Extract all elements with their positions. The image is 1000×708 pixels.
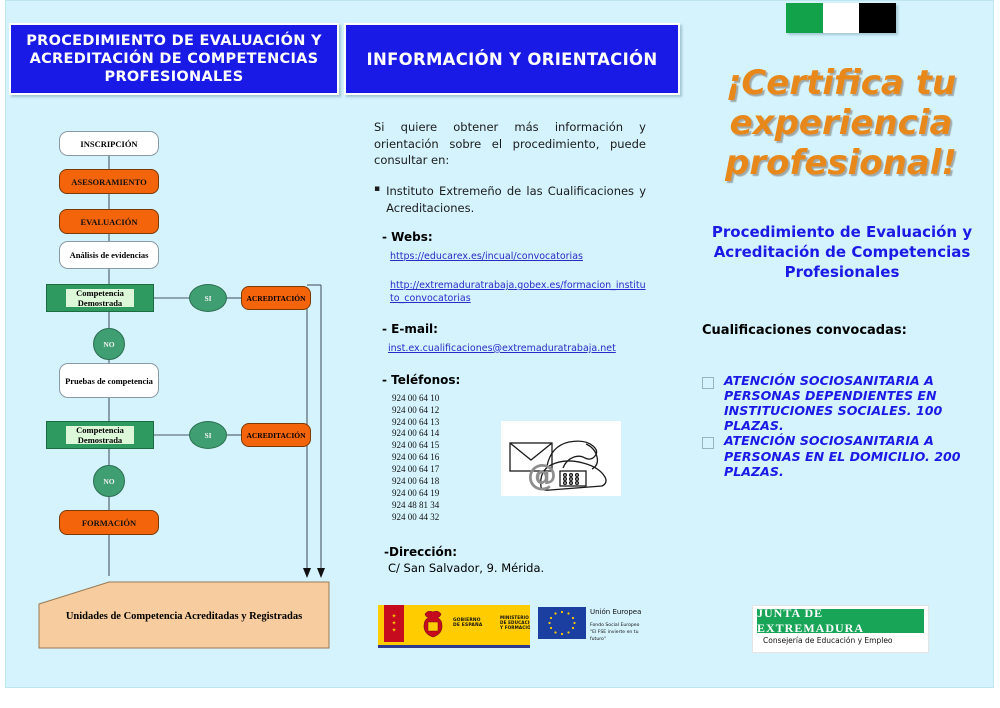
- flow-node-competencia-demostrada-2: Competencia Demostrada: [46, 421, 154, 449]
- flag-block-green: [786, 3, 823, 33]
- promo-subtitle: Procedimiento de Evaluación y Acreditaci…: [698, 223, 986, 282]
- funding-logos-row: ✦✦✦ GOBIERNODE ESPAÑA MINISTERIO DE EDUC…: [378, 605, 648, 651]
- flow-node-si-2: SI: [189, 421, 227, 449]
- flow-node-no-1: NO: [93, 328, 125, 360]
- qualifications-heading: Cualificaciones convocadas:: [702, 323, 907, 338]
- flow-node-competencia-demostrada-1-label: Competencia Demostrada: [65, 288, 135, 308]
- flow-node-no-2: NO: [93, 465, 125, 497]
- promo-slogan: ¡Certifica tu experiencia profesional!: [690, 63, 992, 183]
- flow-node-analisis-evidencias: Análisis de evidencias: [59, 241, 159, 269]
- qualification-label: ATENCIÓN SOCIOSANITARIA A PERSONAS DEPEN…: [724, 373, 988, 433]
- web-link-extremaduratrabaja[interactable]: http://extremaduratrabaja.gobex.es/forma…: [374, 280, 646, 306]
- checkbox-icon[interactable]: [702, 437, 714, 449]
- flag-block-black: [859, 3, 896, 33]
- flow-node-asesoramiento: ASESORAMIENTO: [59, 169, 159, 194]
- address-label: -Dirección:: [384, 545, 457, 559]
- flow-node-inscripcion: INSCRIPCIÓN: [59, 131, 159, 156]
- junta-subtitle: Consejería de Educación y Empleo: [763, 636, 893, 645]
- slogan-line-1: ¡Certifica tu: [690, 63, 992, 103]
- phone-number: 924 00 44 32: [392, 512, 646, 524]
- flow-node-acreditacion-2: ACREDITACIÓN: [241, 423, 311, 447]
- phone-envelope-at-icon: @: [501, 421, 621, 496]
- address-value: C/ San Salvador, 9. Mérida.: [384, 561, 646, 575]
- gobierno-de-espana-logo: ✦✦✦ GOBIERNODE ESPAÑA MINISTERIO DE EDUC…: [378, 605, 530, 648]
- phone-number: 924 00 64 10: [392, 393, 646, 405]
- phone-number: 924 48 81 34: [392, 500, 646, 512]
- qualification-item: ATENCIÓN SOCIOSANITARIA A PERSONAS EN EL…: [702, 433, 988, 478]
- institution-bullet-text: Instituto Extremeño de las Cualificacion…: [386, 183, 646, 216]
- brochure-page: PROCEDIMIENTO DE EVALUACIÓN Y ACREDITACI…: [0, 0, 1000, 708]
- extremadura-flag-icon: [786, 3, 896, 33]
- eu-subtitle: Fondo Social Europeo"El FSE invierte en …: [590, 622, 650, 643]
- flow-node-competencia-demostrada-1: Competencia Demostrada: [46, 284, 154, 312]
- email-link[interactable]: inst.ex.cualificaciones@extremaduratraba…: [374, 343, 616, 354]
- flow-node-competencia-demostrada-2-label: Competencia Demostrada: [65, 425, 135, 445]
- spain-flag-stripe-yellow: [404, 605, 409, 642]
- header-left-title: PROCEDIMIENTO DE EVALUACIÓN Y ACREDITACI…: [9, 23, 339, 95]
- institution-bullet: ▪ Instituto Extremeño de las Cualificaci…: [374, 183, 646, 216]
- svg-text:@: @: [527, 458, 557, 493]
- flow-node-formacion: FORMACIÓN: [59, 510, 159, 535]
- junta-title: JUNTA DE EXTREMADURA: [757, 609, 924, 633]
- qualification-item: ATENCIÓN SOCIOSANITARIA A PERSONAS DEPEN…: [702, 373, 988, 433]
- phone-email-clipart: @: [501, 421, 621, 496]
- phone-number: 924 00 64 12: [392, 405, 646, 417]
- intro-paragraph: Si quiere obtener más información y orie…: [374, 119, 646, 169]
- junta-de-extremadura-logo: JUNTA DE EXTREMADURA Consejería de Educa…: [752, 605, 929, 653]
- header-middle-title: INFORMACIÓN Y ORIENTACIÓN: [344, 23, 680, 95]
- qualification-label: ATENCIÓN SOCIOSANITARIA A PERSONAS EN EL…: [724, 433, 988, 478]
- square-bullet-icon: ▪: [374, 183, 380, 216]
- checkbox-icon[interactable]: [702, 377, 714, 389]
- ministerio-label: MINISTERIO DE EDUCACIÓN Y FORMACIÓN PROF…: [500, 615, 530, 630]
- flow-node-si-1: SI: [189, 284, 227, 312]
- flow-node-pruebas-competencia: Pruebas de competencia: [59, 363, 159, 398]
- flag-block-white: [823, 3, 859, 33]
- flow-node-acreditacion-1: ACREDITACIÓN: [241, 286, 311, 310]
- promo-column: ¡Certifica tu experiencia profesional! P…: [682, 1, 1000, 689]
- information-column: Si quiere obtener más información y orie…: [374, 119, 646, 575]
- procedure-flowchart: INSCRIPCIÓN ASESORAMIENTO EVALUACIÓN Aná…: [11, 106, 341, 651]
- phones-label: - Teléfonos:: [374, 373, 646, 387]
- email-label: - E-mail:: [374, 322, 646, 336]
- slogan-line-2: experiencia: [690, 103, 992, 143]
- flow-node-evaluacion: EVALUACIÓN: [59, 209, 159, 234]
- spain-logo-stars-icon: ✦✦✦: [387, 613, 401, 635]
- web-link-educarex[interactable]: https://educarex.es/incual/convocatorias: [374, 251, 646, 264]
- qualifications-list: ATENCIÓN SOCIOSANITARIA A PERSONAS DEPEN…: [702, 373, 988, 479]
- eu-flag-icon: [538, 607, 586, 639]
- address-block: -Dirección: C/ San Salvador, 9. Mérida.: [374, 545, 646, 575]
- union-europea-logo: Unión Europea Fondo Social Europeo"El FS…: [538, 605, 650, 647]
- spain-coat-of-arms-icon: [420, 610, 446, 638]
- flow-node-unidades-label: Unidades de Competencia Acreditadas y Re…: [39, 596, 329, 636]
- gobierno-label: GOBIERNODE ESPAÑA: [453, 618, 482, 628]
- webs-label: - Webs:: [374, 230, 646, 244]
- slogan-line-3: profesional!: [690, 143, 992, 183]
- brochure-sheet: PROCEDIMIENTO DE EVALUACIÓN Y ACREDITACI…: [5, 0, 994, 688]
- eu-title: Unión Europea: [590, 608, 641, 616]
